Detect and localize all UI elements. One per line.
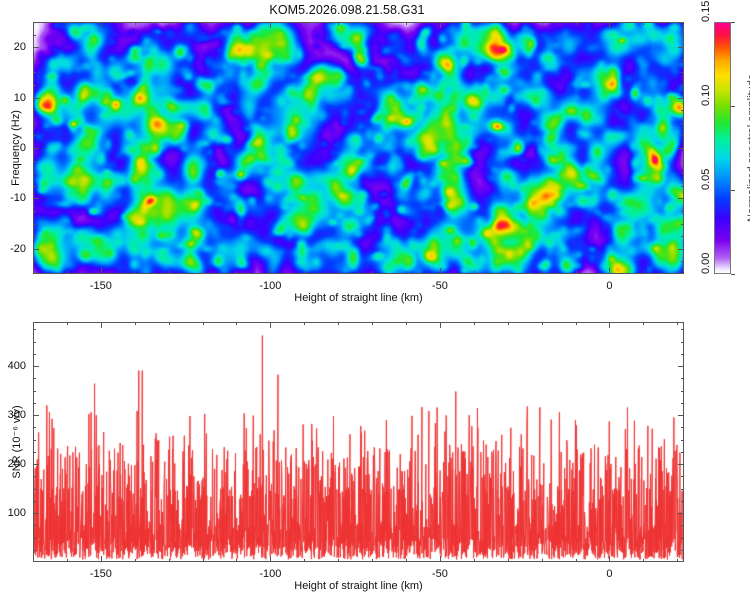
axis-tick [33,366,39,367]
axis-tick [33,538,36,539]
axis-tick [508,559,509,562]
axis-tick [677,559,678,562]
axis-tick [542,271,543,274]
axis-tick [474,271,475,274]
axis-tick [681,378,684,379]
axis-tick [678,415,684,416]
axis-tick [681,354,684,355]
spectrogram-xtick-label: -50 [432,280,448,292]
axis-tick [101,268,102,274]
spectrogram-ylabel: Frequency (Hz) [10,110,22,186]
axis-tick [681,135,684,136]
axis-tick [678,148,684,149]
snr-xlabel: Height of straight line (km) [294,580,422,592]
axis-tick [33,342,36,343]
axis-tick [731,190,735,191]
spectrogram-frame [33,22,684,274]
axis-tick [681,261,684,262]
axis-tick [203,559,204,562]
axis-tick [643,22,644,25]
axis-tick [236,22,237,25]
axis-tick [33,110,36,111]
axis-tick [609,556,610,562]
axis-tick [33,135,36,136]
spectrogram-xtick-label: 0 [606,280,612,292]
spectrogram-xlabel: Height of straight line (km) [294,292,422,304]
axis-tick [338,322,339,325]
axis-tick [203,322,204,325]
axis-tick [169,559,170,562]
axis-tick [681,35,684,36]
axis-tick [731,274,735,275]
axis-tick [681,403,684,404]
snr-frame [33,322,684,562]
axis-tick [406,271,407,274]
axis-tick [731,22,735,23]
axis-tick [474,322,475,325]
axis-tick [406,322,407,325]
axis-tick [681,224,684,225]
axis-tick [304,271,305,274]
axis-tick [135,271,136,274]
axis-tick [681,452,684,453]
axis-tick [33,123,36,124]
axis-tick [33,35,36,36]
axis-tick [33,427,36,428]
axis-tick [169,22,170,25]
axis-tick [67,559,68,562]
axis-tick [101,22,102,28]
spectrogram-xtick-label: -100 [259,280,281,292]
axis-tick [643,271,644,274]
axis-tick [270,556,271,562]
snr-ytick-label: 100 [0,507,26,519]
figure-title: KOM5.2026.098.21.58.G31 [0,3,694,17]
axis-tick [474,22,475,25]
axis-tick [236,559,237,562]
axis-tick [678,513,684,514]
snr-panel [33,322,684,562]
axis-tick [681,85,684,86]
axis-tick [681,550,684,551]
axis-tick [406,22,407,25]
axis-tick [101,556,102,562]
axis-tick [678,98,684,99]
axis-tick [681,60,684,61]
axis-tick [681,342,684,343]
axis-tick [678,366,684,367]
axis-tick [440,556,441,562]
axis-tick [681,440,684,441]
axis-tick [203,271,204,274]
axis-tick [33,85,36,86]
axis-tick [643,559,644,562]
axis-tick [33,329,36,330]
axis-tick [731,106,735,107]
axis-tick [33,249,39,250]
axis-tick [33,489,36,490]
axis-tick [372,271,373,274]
axis-tick [677,322,678,325]
colorbar-strip [714,22,731,274]
axis-tick [33,261,36,262]
axis-tick [270,268,271,274]
axis-tick [33,513,39,514]
axis-tick [609,22,610,28]
axis-tick [542,559,543,562]
axis-tick [508,271,509,274]
axis-tick [681,186,684,187]
axis-tick [678,47,684,48]
axis-tick [576,559,577,562]
axis-tick [135,322,136,325]
axis-tick [576,22,577,25]
spectrogram-ytick-label: 20 [0,41,26,53]
axis-tick [33,72,36,73]
axis-tick [678,198,684,199]
axis-tick [33,236,36,237]
snr-xtick-label: -150 [90,568,112,580]
axis-tick [169,322,170,325]
axis-tick [236,322,237,325]
axis-tick [33,186,36,187]
axis-tick [681,538,684,539]
snr-ylabel: SNR (10⁻⁶ v/v) [10,405,23,478]
axis-tick [681,525,684,526]
axis-tick [135,559,136,562]
axis-tick [135,22,136,25]
axis-tick [681,110,684,111]
axis-tick [67,322,68,325]
axis-tick [542,22,543,25]
axis-tick [681,476,684,477]
axis-tick [101,322,102,328]
axis-tick [338,271,339,274]
axis-tick [338,22,339,25]
axis-tick [474,559,475,562]
axis-tick [67,271,68,274]
axis-tick [33,47,39,48]
axis-tick [33,161,36,162]
axis-tick [440,322,441,328]
axis-tick [677,22,678,25]
axis-tick [542,322,543,325]
axis-tick [681,329,684,330]
axis-tick [33,415,39,416]
axis-tick [681,427,684,428]
axis-tick [440,268,441,274]
axis-tick [406,559,407,562]
snr-ytick-label: 400 [0,360,26,372]
axis-tick [33,501,36,502]
axis-tick [203,22,204,25]
axis-tick [372,22,373,25]
axis-tick [440,22,441,28]
axis-tick [678,464,684,465]
axis-tick [609,268,610,274]
axis-tick [677,271,678,274]
axis-tick [681,489,684,490]
axis-tick [508,22,509,25]
axis-tick [33,148,39,149]
axis-tick [236,271,237,274]
spectrogram-ytick-label: -20 [0,243,26,255]
axis-tick [33,550,36,551]
axis-tick [33,452,36,453]
axis-tick [270,322,271,328]
axis-tick [33,173,36,174]
axis-tick [33,403,36,404]
axis-tick [33,378,36,379]
axis-tick [33,476,36,477]
axis-tick [304,22,305,25]
snr-xtick-label: -100 [259,568,281,580]
axis-tick [372,559,373,562]
axis-tick [681,391,684,392]
axis-tick [681,173,684,174]
axis-tick [681,72,684,73]
axis-tick [33,525,36,526]
axis-tick [681,123,684,124]
axis-tick [33,98,39,99]
spectrogram-ytick-label: -10 [0,192,26,204]
axis-tick [681,161,684,162]
axis-tick [33,211,36,212]
axis-tick [33,464,39,465]
snr-xtick-label: -50 [432,568,448,580]
spectrogram-xtick-label: -150 [90,280,112,292]
axis-tick [33,354,36,355]
axis-tick [338,559,339,562]
axis-tick [508,322,509,325]
axis-tick [609,322,610,328]
axis-tick [643,322,644,325]
axis-tick [681,236,684,237]
figure-canvas: KOM5.2026.098.21.58.G31 -150-100-500-20-… [0,0,750,600]
axis-tick [169,271,170,274]
axis-tick [372,322,373,325]
axis-tick [33,224,36,225]
axis-tick [33,60,36,61]
axis-tick [270,22,271,28]
axis-tick [576,271,577,274]
axis-tick [304,322,305,325]
axis-tick [33,198,39,199]
axis-tick [681,501,684,502]
spectrogram-panel [33,22,684,274]
snr-xtick-label: 0 [606,568,612,580]
axis-tick [33,440,36,441]
axis-tick [33,391,36,392]
axis-tick [678,249,684,250]
spectrogram-ytick-label: 10 [0,92,26,104]
axis-tick [576,322,577,325]
axis-tick [67,22,68,25]
colorbar-label: Normalized spectral amplitude [746,74,750,222]
axis-tick [681,211,684,212]
axis-tick [304,559,305,562]
